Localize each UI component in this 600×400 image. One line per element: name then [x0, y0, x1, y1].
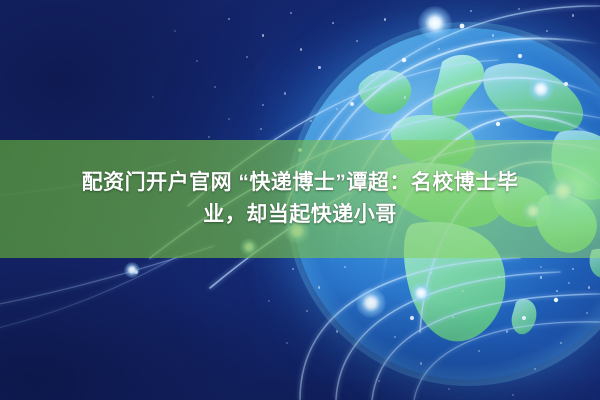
headline: 配资门开户官网 “快递博士”谭超：名校博士毕 业，却当起快递小哥: [0, 140, 600, 258]
headline-line-1: 配资门开户官网 “快递博士”谭超：名校博士毕: [82, 168, 519, 198]
headline-line-2: 业，却当起快递小哥: [203, 200, 397, 230]
banner-image: 配资门开户官网 “快递博士”谭超：名校博士毕 业，却当起快递小哥: [0, 0, 600, 400]
